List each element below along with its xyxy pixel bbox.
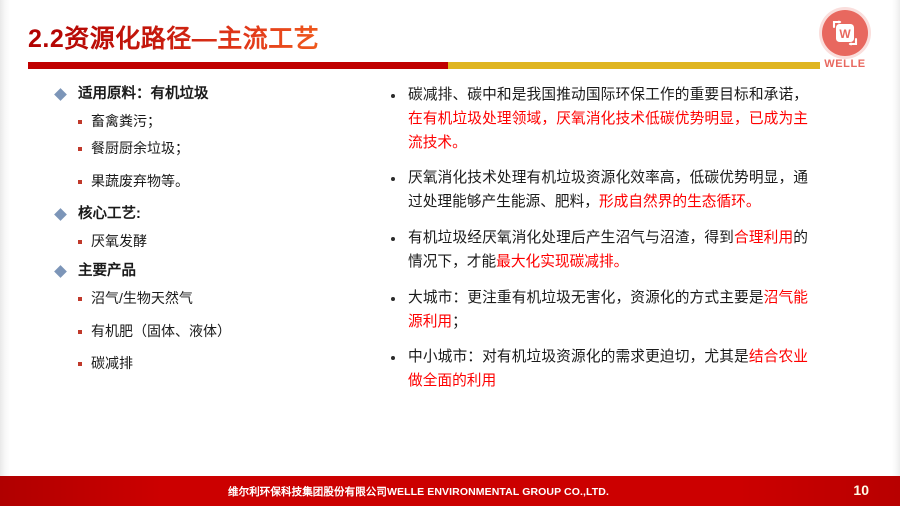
round-bullet-icon [391,356,395,360]
page-number: 10 [853,482,869,498]
text-run: 大城市：更注重有机垃圾无害化，资源化的方式主要是 [408,290,764,306]
list-item-label: 果蔬废弃物等。 [91,171,189,193]
text-run: 有机垃圾经厌氧消化处理后产生沼气与沼渣，得到 [408,230,734,246]
list-item: 大城市：更注重有机垃圾无害化，资源化的方式主要是沼气能源利用； [391,287,808,335]
text-run: ； [452,314,467,330]
left-group-main-products: 主要产品 沼气/生物天然气 有机肥（固体、液体） 碳减排 [56,261,355,375]
title-divider-gold-segment [448,62,820,69]
list-item-label: 碳减排 [91,353,133,375]
page-title: 2.2资源化路径—主流工艺 [28,19,319,55]
square-bullet-icon [78,330,82,334]
highlighted-text-run: 形成自然界的生态循环。 [599,194,761,210]
left-group-heading-text: 核心工艺: [78,204,141,226]
highlighted-text-run: 合理利用 [734,230,793,246]
bullet-text: 大城市：更注重有机垃圾无害化，资源化的方式主要是沼气能源利用； [408,287,808,335]
square-bullet-icon [78,180,82,184]
list-item: 沼气/生物天然气 [78,288,355,310]
title-divider-red-segment [28,62,448,69]
list-item: 果蔬废弃物等。 [78,171,355,193]
diamond-bullet-icon [54,88,67,101]
slide: 2.2资源化路径—主流工艺 W WELLE 适用原料：有机垃圾 [0,0,900,506]
logo-wordmark: WELLE [808,58,882,70]
round-bullet-icon [391,237,395,241]
list-item: 畜禽粪污； [78,111,355,133]
list-item: 有机肥（固体、液体） [78,321,355,343]
list-item: 中小城市：对有机垃圾资源化的需求更迫切，尤其是结合农业做全面的利用 [391,346,808,394]
bullet-text: 厌氧消化技术处理有机垃圾资源化效率高，低碳优势明显，通过处理能够产生能源、肥料，… [408,167,808,215]
list-item: 厌氧消化技术处理有机垃圾资源化效率高，低碳优势明显，通过处理能够产生能源、肥料，… [391,167,808,215]
left-group-heading: 核心工艺: [56,204,355,226]
round-bullet-icon [391,94,395,98]
left-group-heading: 主要产品 [56,261,355,283]
footer-company-name: 维尔利环保科技集团股份有限公司WELLE ENVIRONMENTAL GROUP… [228,484,609,499]
left-group-heading-text: 主要产品 [78,261,136,283]
bullet-text: 有机垃圾经厌氧消化处理后产生沼气与沼渣，得到合理利用的情况下，才能最大化实现碳减… [408,227,808,275]
list-item-label: 有机肥（固体、液体） [91,321,231,343]
company-logo: W WELLE [808,10,882,70]
list-item: 餐厨厨余垃圾； [78,138,355,160]
right-column: 碳减排、碳中和是我国推动国际环保工作的重要目标和承诺，在有机垃圾处理领域，厌氧消… [355,84,900,464]
left-group-heading: 适用原料：有机垃圾 [56,84,355,106]
bullet-text: 中小城市：对有机垃圾资源化的需求更迫切，尤其是结合农业做全面的利用 [408,346,808,394]
left-group-core-process: 核心工艺: 厌氧发酵 [56,204,355,252]
list-item-label: 沼气/生物天然气 [91,288,193,310]
list-item-label: 畜禽粪污； [91,111,161,133]
list-item: 碳减排、碳中和是我国推动国际环保工作的重要目标和承诺，在有机垃圾处理领域，厌氧消… [391,84,808,155]
left-group-heading-text: 适用原料：有机垃圾 [78,84,209,106]
square-bullet-icon [78,120,82,124]
square-bullet-icon [78,297,82,301]
slide-body: 适用原料：有机垃圾 畜禽粪污； 餐厨厨余垃圾； 果蔬废弃物等。 [0,84,900,464]
list-item-label: 餐厨厨余垃圾； [91,138,189,160]
list-item: 厌氧发酵 [78,231,355,253]
bullet-text: 碳减排、碳中和是我国推动国际环保工作的重要目标和承诺，在有机垃圾处理领域，厌氧消… [408,84,808,155]
list-item-label: 厌氧发酵 [91,231,147,253]
slide-footer: 维尔利环保科技集团股份有限公司WELLE ENVIRONMENTAL GROUP… [0,476,900,506]
list-item: 有机垃圾经厌氧消化处理后产生沼气与沼渣，得到合理利用的情况下，才能最大化实现碳减… [391,227,808,275]
square-bullet-icon [78,362,82,366]
highlighted-text-run: 最大化实现碳减排。 [496,254,628,270]
svg-text:W: W [839,27,851,41]
left-column: 适用原料：有机垃圾 畜禽粪污； 餐厨厨余垃圾； 果蔬废弃物等。 [0,84,355,464]
highlighted-text-run: 在有机垃圾处理领域，厌氧消化技术低碳优势明显，已成为主流技术。 [408,111,808,151]
square-bullet-icon [78,240,82,244]
left-group-materials: 适用原料：有机垃圾 畜禽粪污； 餐厨厨余垃圾； 果蔬废弃物等。 [56,84,355,193]
list-item: 碳减排 [78,353,355,375]
round-bullet-icon [391,177,395,181]
diamond-bullet-icon [54,265,67,278]
round-bullet-icon [391,297,395,301]
title-divider [28,62,820,69]
text-run: 中小城市：对有机垃圾资源化的需求更迫切，尤其是 [408,349,749,365]
welle-logo-icon: W [822,10,868,56]
square-bullet-icon [78,147,82,151]
diamond-bullet-icon [54,208,67,221]
text-run: 碳减排、碳中和是我国推动国际环保工作的重要目标和承诺， [408,87,808,103]
